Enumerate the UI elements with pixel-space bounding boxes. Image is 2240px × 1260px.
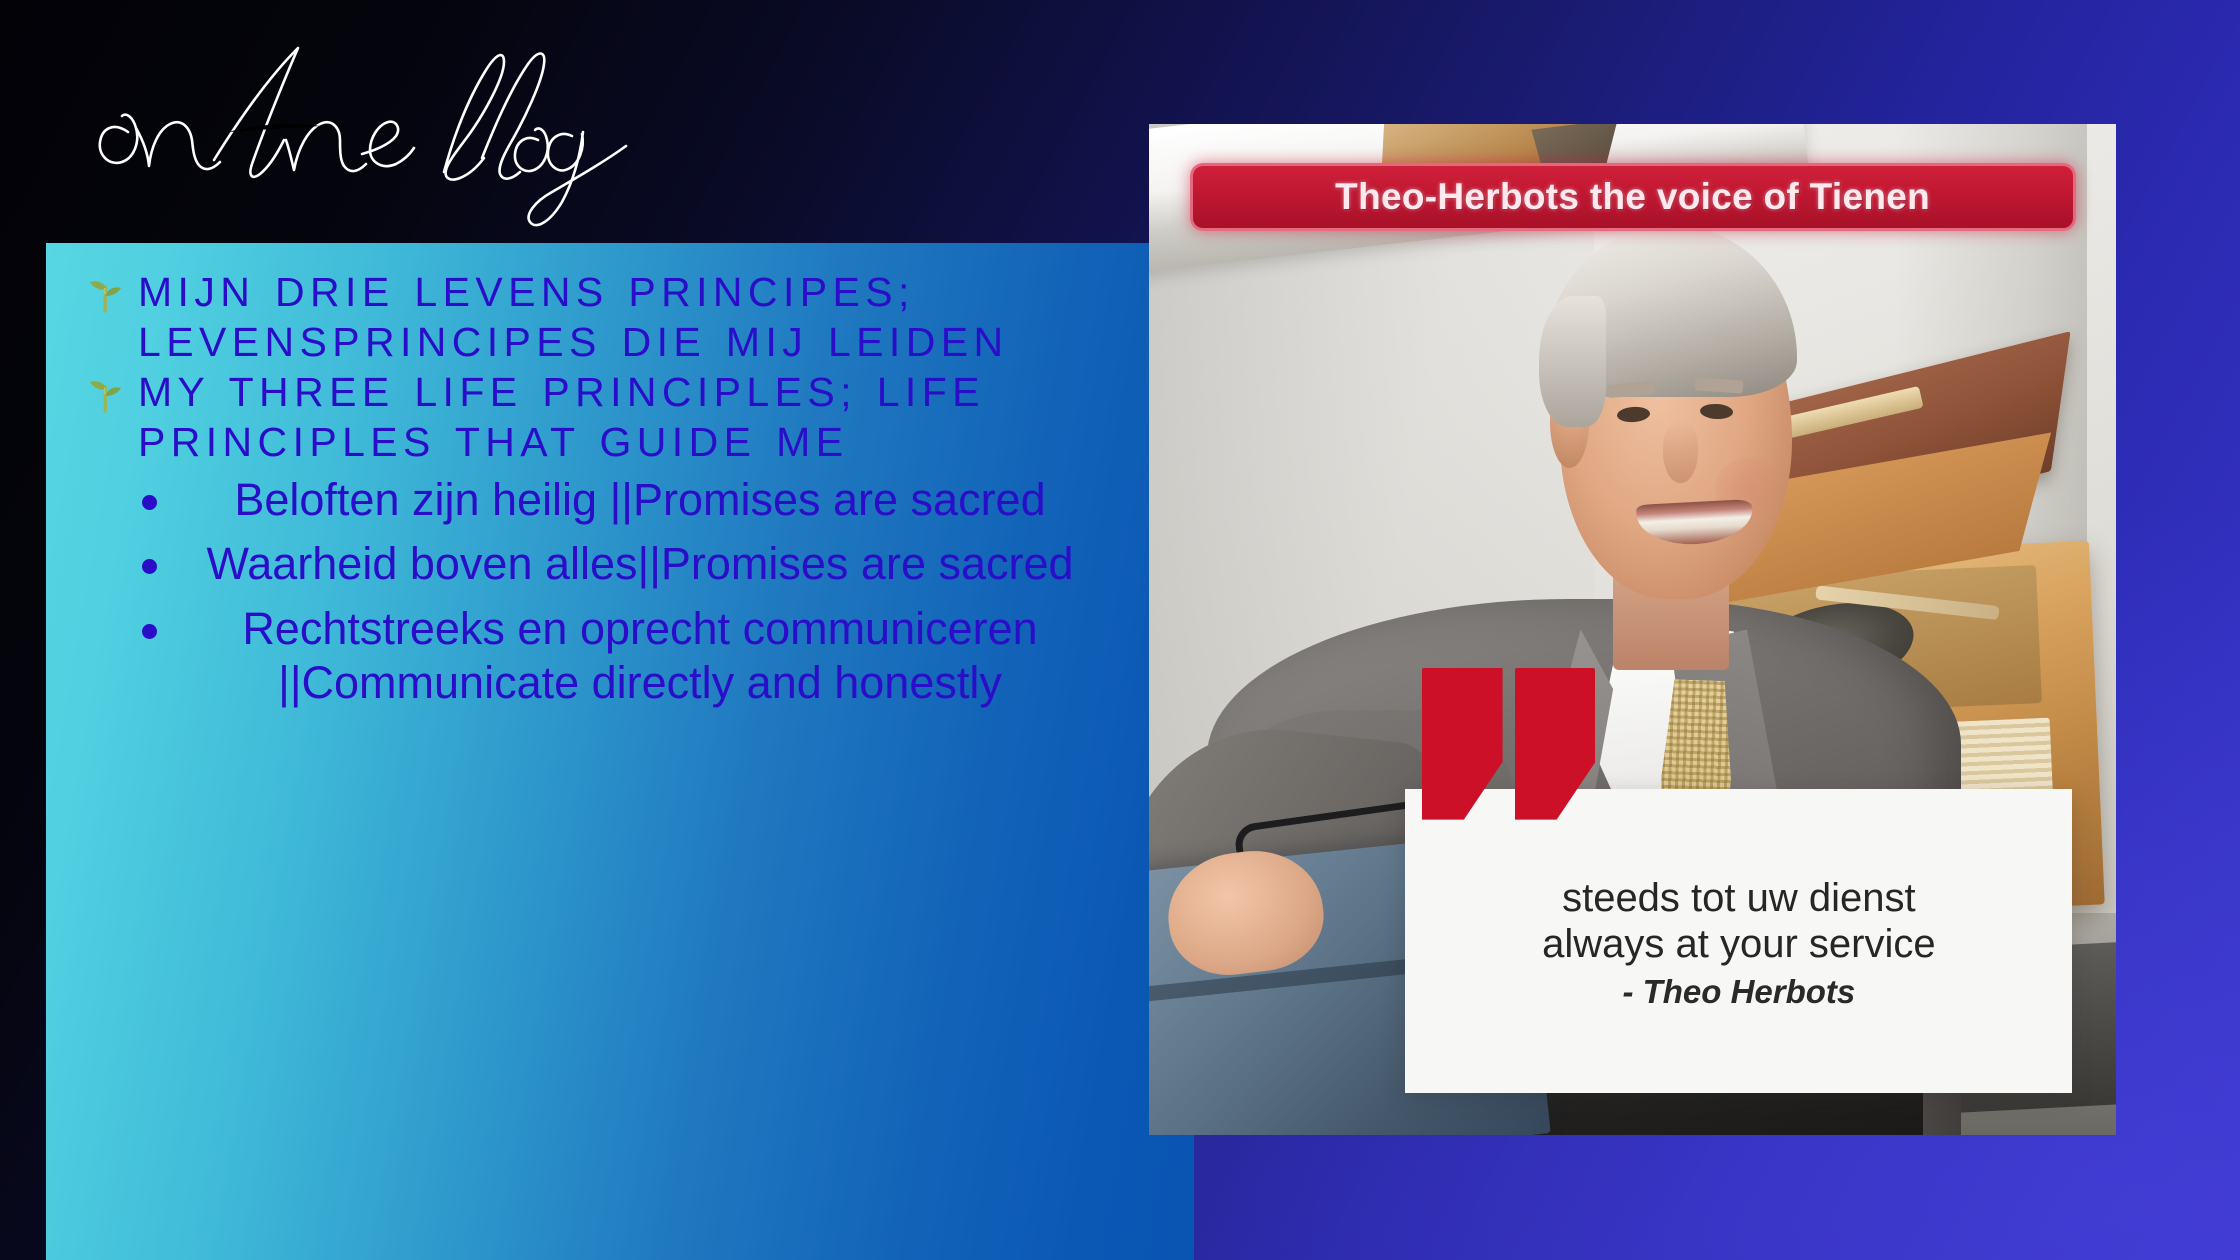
list-item-text: Beloften zijn heilig ||Promises are sacr… xyxy=(234,474,1045,525)
quote-line-2: always at your service xyxy=(1542,921,1935,967)
panel-inner: MIJN DRIE LEVENS PRINCIPES; LEVENSPRINCI… xyxy=(46,243,1194,1260)
portrait-photo: Theo-Herbots the voice of Tienen steeds … xyxy=(1149,124,2116,1135)
heading-line-1: MIJN DRIE LEVENS PRINCIPES; xyxy=(138,269,915,315)
man-sideburn xyxy=(1539,296,1607,427)
bullet-dot-icon xyxy=(142,624,157,639)
content-panel: MIJN DRIE LEVENS PRINCIPES; LEVENSPRINCI… xyxy=(46,243,1194,1260)
panel-heading: MIJN DRIE LEVENS PRINCIPES; LEVENSPRINCI… xyxy=(80,269,1160,467)
name-banner: Theo-Herbots the voice of Tienen xyxy=(1190,163,2076,231)
list-item-text: Rechtstreeks en oprecht communiceren ||C… xyxy=(242,603,1037,708)
seedling-icon-2 xyxy=(86,374,126,414)
heading-line-1-wrapper: MIJN DRIE LEVENS PRINCIPES; xyxy=(138,269,1160,317)
heading-line-3: MY THREE LIFE PRINCIPLES; LIFE xyxy=(138,369,985,415)
quote-line-1: steeds tot uw dienst xyxy=(1562,875,1916,921)
quotation-mark-icon xyxy=(1422,668,1595,820)
poster-canvas: MIJN DRIE LEVENS PRINCIPES; LEVENSPRINCI… xyxy=(0,0,2240,1260)
bullet-dot-icon xyxy=(142,559,157,574)
name-banner-text: Theo-Herbots the voice of Tienen xyxy=(1335,176,1930,218)
heading-line-3-wrapper: MY THREE LIFE PRINCIPLES; LIFE xyxy=(138,369,1160,417)
list-item: Rechtstreeks en oprecht communiceren ||C… xyxy=(100,602,1116,711)
list-item: Waarheid boven alles||Promises are sacre… xyxy=(100,537,1116,591)
bullet-dot-icon xyxy=(142,495,157,510)
man-nose xyxy=(1663,422,1698,483)
quote-card: steeds tot uw dienst always at your serv… xyxy=(1405,789,2072,1092)
principles-list: Beloften zijn heilig ||Promises are sacr… xyxy=(80,473,1160,711)
quote-mark-right xyxy=(1515,668,1596,820)
heading-line-4: PRINCIPLES THAT GUIDE ME xyxy=(138,419,1160,467)
list-item-text: Waarheid boven alles||Promises are sacre… xyxy=(206,538,1073,589)
heading-line-2: LEVENSPRINCIPES DIE MIJ LEIDEN xyxy=(138,319,1160,367)
list-item: Beloften zijn heilig ||Promises are sacr… xyxy=(100,473,1116,527)
seedling-icon xyxy=(86,274,126,314)
quote-mark-left xyxy=(1422,668,1503,820)
quote-author: - Theo Herbots xyxy=(1622,973,1855,1011)
